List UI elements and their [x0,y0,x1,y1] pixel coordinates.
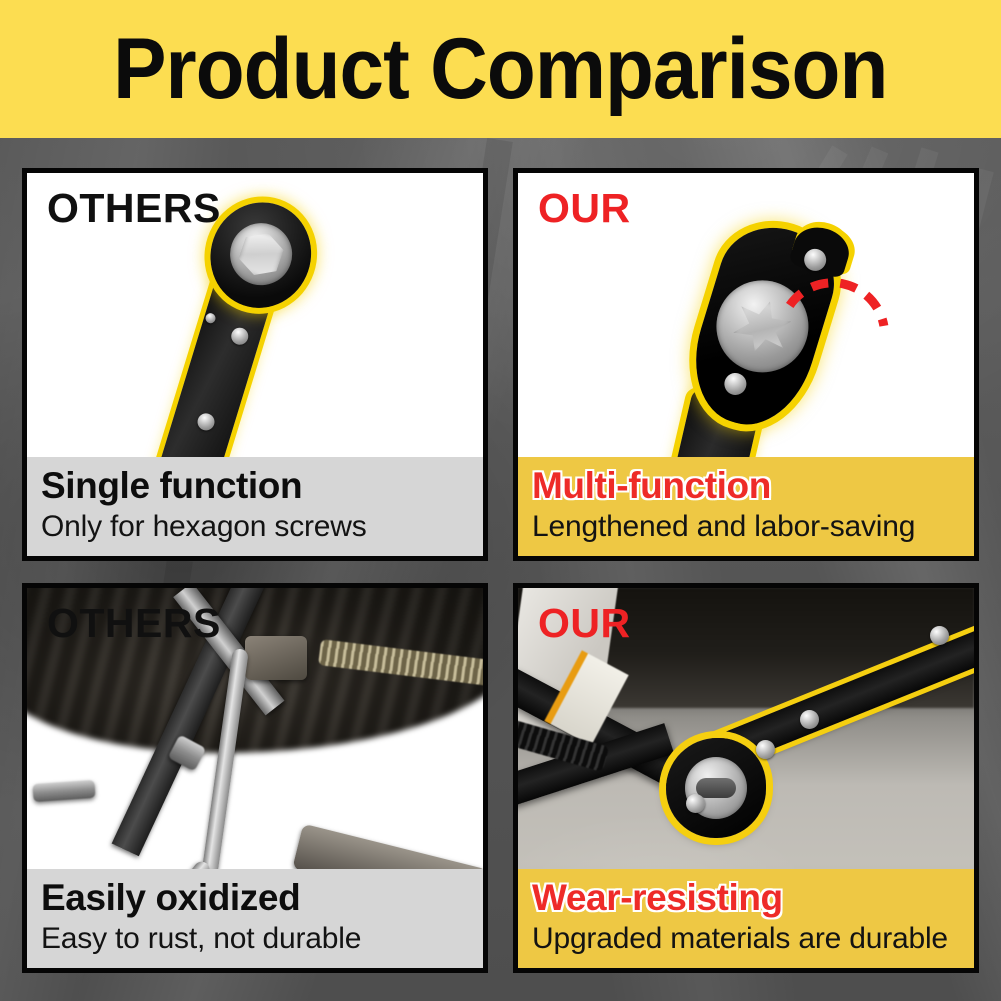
panel-caption-easily-oxidized: Easily oxidized Easy to rust, not durabl… [27,869,483,968]
panel-our-multi-function: OUR Multi-function Lengthened and labor-… [513,168,979,561]
wrench-rivet [930,626,949,645]
caption-subtitle: Upgraded materials are durable [532,921,960,956]
panel-tag-our: OUR [538,187,631,230]
socket-key [696,778,736,798]
page-title: Product Comparison [113,26,887,112]
caption-title: Wear-resisting [532,877,960,918]
caption-title: Single function [41,465,469,506]
wrench-rivet [686,794,705,813]
comparison-grid: OTHERS Single function Only for hexagon … [22,168,979,983]
wrench-rivet [756,740,775,759]
panel-others-single-function: OTHERS Single function Only for hexagon … [22,168,488,561]
caption-title: Multi-function [532,465,960,506]
panel-others-easily-oxidized: OTHERS Easily oxidized Easy to rust, not… [22,583,488,973]
panel-our-wear-resisting: OUR Wear-resisting Upgraded materials ar… [513,583,979,973]
panel-caption-single-function: Single function Only for hexagon screws [27,457,483,556]
ratchet-wrench-head [666,738,766,838]
jack-pivot-block [245,636,307,680]
panel-tag-others: OTHERS [47,602,221,645]
hexagon-socket-opening [235,227,287,282]
caption-title: Easily oxidized [41,877,469,918]
caption-subtitle: Lengthened and labor-saving [532,509,960,544]
panel-caption-multi-function: Multi-function Lengthened and labor-savi… [518,457,974,556]
panel-tag-others: OTHERS [47,187,221,230]
caption-subtitle: Only for hexagon screws [41,509,469,544]
wrench-rivet [800,710,819,729]
header-banner: Product Comparison [0,0,1001,138]
product-comparison-infographic: Product Comparison OTHERS [0,0,1001,1001]
caption-subtitle: Easy to rust, not durable [41,921,469,956]
panel-tag-our: OUR [538,602,631,645]
panel-caption-wear-resisting: Wear-resisting Upgraded materials are du… [518,869,974,968]
